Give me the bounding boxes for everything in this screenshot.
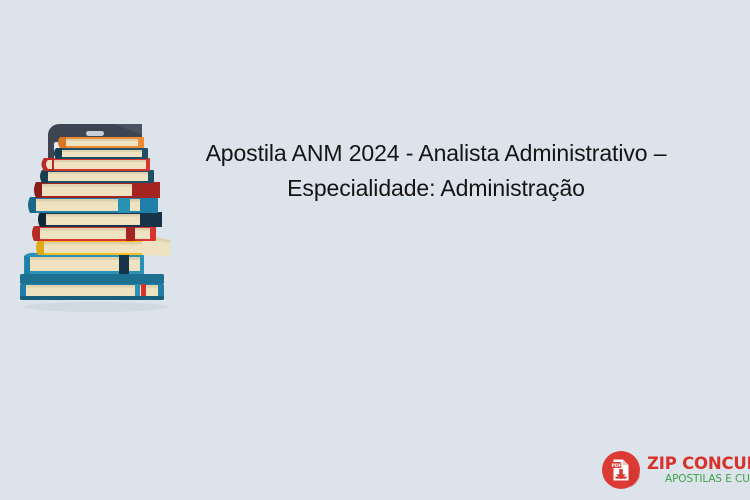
- book-red: [32, 226, 156, 241]
- book-teal-thin: [54, 148, 148, 159]
- book-dark-teal: [40, 170, 154, 183]
- page-title: Apostila ANM 2024 - Analista Administrat…: [180, 136, 692, 206]
- title-block: Apostila ANM 2024 - Analista Administrat…: [180, 136, 692, 206]
- brand-wordmark: ZIP CONCURSOS APOSTILAS E CURSOS: [647, 454, 750, 486]
- books-tablet-illustration: [14, 122, 174, 317]
- book-top-orange: [58, 137, 144, 148]
- book-bottom-teal: [20, 274, 164, 300]
- pdf-download-icon: PDF: [601, 450, 641, 490]
- brand-tagline: APOSTILAS E CURSOS: [665, 473, 750, 486]
- brand-logo[interactable]: PDF ZIP CONCURSOS APOSTILAS E CURSOS: [601, 448, 741, 492]
- book-maroon: [34, 182, 160, 198]
- svg-text:PDF: PDF: [612, 463, 622, 469]
- book-navy: [38, 212, 162, 227]
- book-red-small: [42, 158, 151, 171]
- book-blue: [28, 197, 158, 213]
- book-teal-open: [24, 253, 144, 274]
- brand-name: ZIP CONCURSOS: [647, 454, 750, 473]
- product-banner: Apostila ANM 2024 - Analista Administrat…: [0, 0, 750, 500]
